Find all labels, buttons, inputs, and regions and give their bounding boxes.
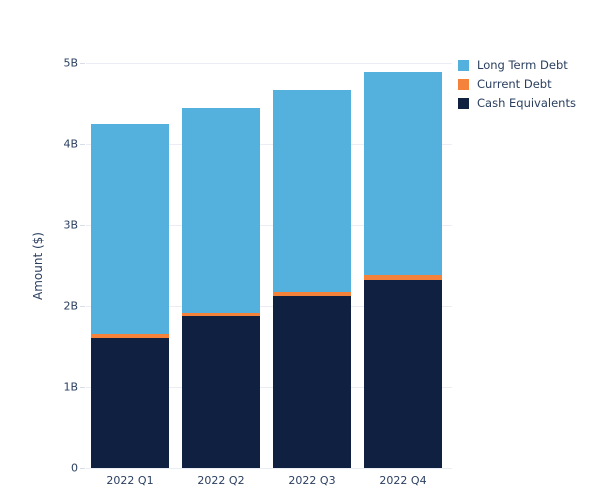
x-tick-label-2022-q3: 2022 Q3 (288, 474, 335, 487)
stacked-bar-chart: Amount ($) 5B 4B 3B 2B 1B 0 (0, 0, 600, 500)
gridline-5b (86, 63, 452, 64)
bar-segment-long-term-debt[interactable] (182, 108, 260, 313)
legend-item-cash-equivalents[interactable]: Cash Equivalents (458, 94, 598, 112)
bar-segment-cash-equivalents[interactable] (91, 338, 169, 468)
y-tick-label-5b: 5B (63, 57, 78, 70)
x-tick-label-2022-q2: 2022 Q2 (197, 474, 244, 487)
bar-segment-long-term-debt[interactable] (273, 90, 351, 293)
bar-segment-cash-equivalents[interactable] (273, 296, 351, 468)
legend-label: Cash Equivalents (477, 96, 576, 110)
x-tick-label-2022-q1: 2022 Q1 (106, 474, 153, 487)
bar-segment-long-term-debt[interactable] (91, 124, 169, 335)
x-tick-label-2022-q4: 2022 Q4 (379, 474, 426, 487)
chart-legend: Long Term Debt Current Debt Cash Equival… (458, 56, 598, 113)
legend-label: Long Term Debt (477, 58, 568, 72)
x-axis-line (86, 468, 452, 469)
bar-segment-cash-equivalents[interactable] (182, 316, 260, 468)
y-tick-label-2b: 2B (63, 300, 78, 313)
legend-swatch-icon (458, 79, 469, 90)
y-tick-label-4b: 4B (63, 138, 78, 151)
bar-group-2022-q3[interactable] (273, 90, 351, 468)
y-tick-label-3b: 3B (63, 219, 78, 232)
y-tick-label-1b: 1B (63, 381, 78, 394)
y-tick-label-0: 0 (71, 462, 78, 475)
y-tick-mark-0 (80, 468, 85, 469)
bar-group-2022-q1[interactable] (91, 124, 169, 468)
bar-group-2022-q2[interactable] (182, 108, 260, 468)
y-tick-mark-5b (80, 63, 85, 64)
bar-segment-long-term-debt[interactable] (364, 72, 442, 275)
legend-item-long-term-debt[interactable]: Long Term Debt (458, 56, 598, 74)
plot-area (86, 63, 452, 468)
legend-item-current-debt[interactable]: Current Debt (458, 75, 598, 93)
y-tick-mark-2b (80, 306, 85, 307)
legend-swatch-icon (458, 60, 469, 71)
y-tick-mark-3b (80, 225, 85, 226)
bar-segment-cash-equivalents[interactable] (364, 280, 442, 468)
y-axis-ticks: 5B 4B 3B 2B 1B 0 (0, 0, 78, 500)
y-tick-mark-1b (80, 387, 85, 388)
legend-label: Current Debt (477, 77, 552, 91)
legend-swatch-icon (458, 98, 469, 109)
bar-group-2022-q4[interactable] (364, 72, 442, 468)
y-tick-mark-4b (80, 144, 85, 145)
